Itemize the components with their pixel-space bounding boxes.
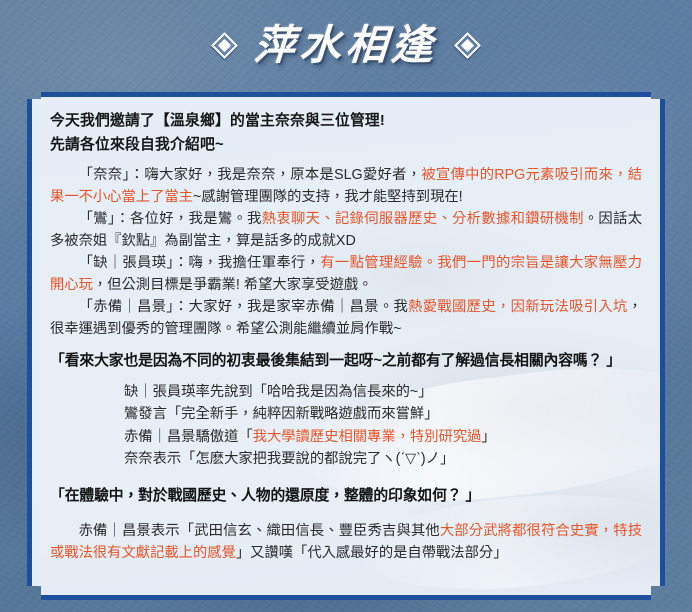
heading-self-intro-prompt: 先請各位來段自我介紹吧~ (50, 135, 642, 157)
page-title: 萍水相逢 (253, 25, 440, 66)
heading-invitation: 今天我們邀請了【溫泉鄉】的當主奈奈與三位管理! (50, 111, 642, 133)
intro-luan: 「鸞」：各位好，我是鸞。我熱衷聊天、記錄伺服器歷史、分析數據和鑽研機制。因話太多… (50, 209, 642, 252)
intro-luan-plain-1: 「鸞」：各位好，我是鸞。我 (79, 211, 262, 227)
final-answer-plain-2: 」又讚嘆「代入感最好的是自帶戰法部分」 (236, 545, 508, 561)
answer-3-plain-1: 赤備｜昌景驕傲道「 (124, 429, 253, 445)
intro-luan-highlight-1: 熱衷聊天、記錄伺服器歷史、分析數據和鑽研機制 (262, 211, 584, 227)
answer-4-plain-1: 奈奈表示「怎麽大家把我要說的都說完了ヽ(ˊ▽ˋ)ノ」 (124, 451, 454, 467)
answer-row-3: 赤備｜昌景驕傲道「我大學讀歷史相關專業，特別研究過」 (50, 427, 642, 449)
final-answer-plain-1: 赤備｜昌景表示「武田信玄、織田信長、豐臣秀吉與其他 (79, 523, 440, 539)
answer-1-plain-1: 缺｜張員瑛率先說到「哈哈我是因為信長來的~」 (124, 384, 433, 400)
intro-nana-plain-2: ~感謝管理團隊的支持，我才能堅持到現在! (193, 189, 463, 205)
diamond-right-icon (454, 32, 481, 59)
title-bar: 萍水相逢 (0, 14, 692, 76)
answer-row-1: 缺｜張員瑛率先說到「哈哈我是因為信長來的~」 (50, 382, 642, 404)
intro-chibi: 「赤備｜昌景」：大家好，我是家宰赤備｜昌景。我熱愛戰國歷史，因新玩法吸引入坑，很… (50, 297, 642, 340)
answer-3-highlight-1: 我大學讀歷史相關專業，特別研究過 (253, 429, 482, 445)
answer-2-plain-1: 鸞發言「完全新手，純粹因新戰略遊戲而來嘗鮮」 (124, 406, 439, 422)
question-2: 「在體驗中，對於戰國歷史、人物的還原度，整體的印象如何？ 」 (50, 486, 642, 508)
final-answer: 赤備｜昌景表示「武田信玄、織田信長、豐臣秀吉與其他大部分武將都很符合史實，特技或… (50, 521, 642, 564)
intro-chibi-highlight-1: 熱愛戰國歷史，因新玩法吸引入坑 (408, 299, 628, 315)
intro-que-plain-2: ，但公測目標是爭霸業! 希望大家享受遊戲。 (93, 277, 373, 293)
intro-nana: 「奈奈」：嗨大家好，我是奈奈，原本是SLG愛好者，被宣傳中的RPG元素吸引而來，… (50, 165, 642, 208)
article-body: 今天我們邀請了【溫泉鄉】的當主奈奈與三位管理! 先請各位來段自我介紹吧~ 「奈奈… (50, 111, 642, 564)
intro-que: 「缺｜張員瑛」：嗨，我擔任軍奉行，有一點管理經驗。我們一門的宗旨是讓大家無壓力開… (50, 253, 642, 296)
intro-chibi-plain-1: 「赤備｜昌景」：大家好，我是家宰赤備｜昌景。我 (79, 299, 409, 315)
answer-row-2: 鸞發言「完全新手，純粹因新戰略遊戲而來嘗鮮」 (50, 404, 642, 426)
intro-nana-plain-1: 「奈奈」：嗨大家好，我是奈奈，原本是SLG愛好者， (79, 167, 422, 183)
content-panel-inner: 今天我們邀請了【溫泉鄉】的當主奈奈與三位管理! 先請各位來段自我介紹吧~ 「奈奈… (32, 97, 660, 595)
intro-que-plain-1: 「缺｜張員瑛」：嗨，我擔任軍奉行， (79, 255, 321, 271)
diamond-left-icon (211, 32, 238, 59)
answer-row-4: 奈奈表示「怎麽大家把我要說的都說完了ヽ(ˊ▽ˋ)ノ」 (50, 449, 642, 471)
content-panel: 今天我們邀請了【溫泉鄉】的當主奈奈與三位管理! 先請各位來段自我介紹吧~ 「奈奈… (27, 92, 665, 600)
question-1: 「看來大家也是因為不同的初衷最後集結到一起呀~之前都有了解過信長相關內容嗎？ 」 (50, 351, 642, 373)
answer-3-plain-2: 」 (481, 429, 495, 445)
